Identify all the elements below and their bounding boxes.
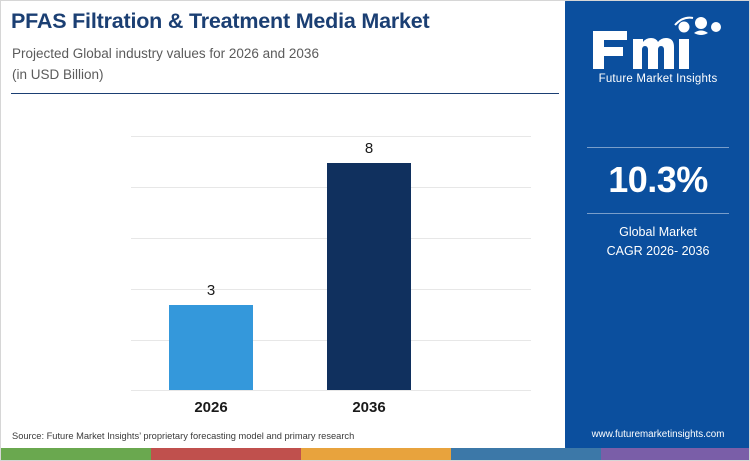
bar-chart: 3 8 2026 2036 <box>11 101 559 411</box>
chart-plot-area: 3 8 <box>131 136 531 391</box>
brand-name: Future Market Insights <box>565 73 750 85</box>
brand-panel: Future Market Insights 10.3% Global Mark… <box>565 1 750 448</box>
gridline <box>131 136 531 137</box>
category-label-2036: 2036 <box>314 399 424 416</box>
subtitle-line-1: Projected Global industry values for 202… <box>12 43 319 64</box>
stripe-segment <box>301 448 451 460</box>
cagr-value: 10.3% <box>565 159 750 201</box>
bar-value-2036: 8 <box>327 140 411 157</box>
cagr-divider-top <box>587 147 729 148</box>
page-title: PFAS Filtration & Treatment Media Market <box>11 8 559 34</box>
cagr-divider-bottom <box>587 213 729 214</box>
cagr-label-line-2: CAGR 2026- 2036 <box>565 242 750 261</box>
page-subtitle: Projected Global industry values for 202… <box>12 43 319 85</box>
brand-logo: Future Market Insights <box>565 11 750 85</box>
bar-2026 <box>169 305 253 390</box>
header-divider <box>11 93 559 94</box>
fmi-logo-icon <box>583 11 733 69</box>
website-url[interactable]: www.futuremarketinsights.com <box>565 429 750 440</box>
category-axis: 2026 2036 <box>131 399 531 419</box>
axis-baseline <box>131 390 531 391</box>
infographic-page: PFAS Filtration & Treatment Media Market… <box>0 0 750 461</box>
source-note: Source: Future Market Insights’ propriet… <box>12 431 354 441</box>
bar-value-2026: 3 <box>169 282 253 299</box>
stripe-segment <box>601 448 750 460</box>
cagr-label-line-1: Global Market <box>565 223 750 242</box>
cagr-label: Global Market CAGR 2026- 2036 <box>565 223 750 261</box>
stripe-segment <box>1 448 151 460</box>
subtitle-line-2: (in USD Billion) <box>12 64 319 85</box>
stripe-segment <box>151 448 301 460</box>
bottom-color-stripe <box>1 448 750 460</box>
stripe-segment <box>451 448 601 460</box>
left-panel: PFAS Filtration & Treatment Media Market… <box>1 1 565 448</box>
bar-2036 <box>327 163 411 390</box>
category-label-2026: 2026 <box>156 399 266 416</box>
